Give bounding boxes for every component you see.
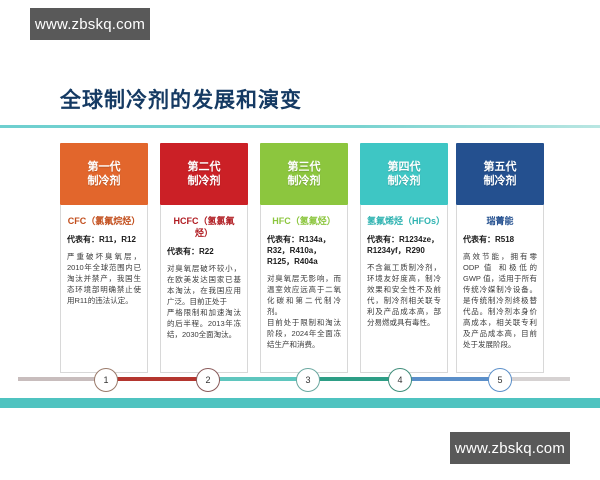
generation-columns: 第一代 制冷剂 CFC（氯氟烷烃） 代表有：R11，R12 严重破坏臭氧层，20…	[60, 143, 542, 375]
generation-representatives-4: 代表有：R1234ze，R1234yf，R290	[367, 234, 441, 256]
generation-description-5: 高效节能，拥有零 ODP 值 和极低的 GWP 值，适用于所有传统冷媒制冷设备。…	[463, 251, 537, 350]
timeline-node-1[interactable]: 1	[94, 368, 118, 392]
generation-representatives-5: 代表有：R518	[463, 234, 537, 245]
generation-header-line1-5: 第五代	[484, 160, 517, 174]
generation-highlight-3: 目前处于限制和淘汰阶段，2024年全面冻结生产和消费。	[267, 317, 341, 350]
generation-header-line2-4: 制冷剂	[388, 174, 421, 188]
generation-header-line2-2: 制冷剂	[188, 174, 221, 188]
generation-body-3: HFC（氢氟烃） 代表有：R134a，R32，R410a，R125，R404a …	[260, 205, 348, 373]
generation-representatives-3: 代表有：R134a，R32，R410a，R125，R404a	[267, 234, 341, 267]
timeline-node-2[interactable]: 2	[196, 368, 220, 392]
generation-subtitle-3: HFC（氢氟烃）	[267, 215, 341, 227]
timeline-segment-3	[312, 377, 396, 381]
generation-header-line2-5: 制冷剂	[484, 174, 517, 188]
generation-subtitle-1: CFC（氯氟烷烃）	[67, 215, 141, 227]
generation-body-2: HCFC（氢氯氟烃） 代表有：R22 对臭氧层破坏较小，在欧美发达国家已基本淘汰…	[160, 205, 248, 373]
timeline-node-5[interactable]: 5	[488, 368, 512, 392]
generation-description-2: 对臭氧层破坏较小，在欧美发达国家已基本淘汰，在我国应用广泛。目前正处于	[167, 263, 241, 307]
infographic-page: www.zbskq.com 全球制冷剂的发展和演变 第一代 制冷剂 CFC（氯氟…	[0, 0, 600, 480]
generation-header-2: 第二代 制冷剂	[160, 143, 248, 205]
timeline-segment-0	[18, 377, 104, 381]
generation-body-5: 瑞菁能 代表有：R518 高效节能，拥有零 ODP 值 和极低的 GWP 值，适…	[456, 205, 544, 373]
generation-column-1[interactable]: 第一代 制冷剂 CFC（氯氟烷烃） 代表有：R11，R12 严重破坏臭氧层，20…	[60, 143, 148, 373]
page-title: 全球制冷剂的发展和演变	[60, 84, 302, 114]
generation-column-2[interactable]: 第二代 制冷剂 HCFC（氢氯氟烃） 代表有：R22 对臭氧层破坏较小，在欧美发…	[160, 143, 248, 373]
generation-body-4: 氢氟烯烃（HFOs） 代表有：R1234ze，R1234yf，R290 不含氟工…	[360, 205, 448, 373]
generation-subtitle-2: HCFC（氢氯氟烃）	[167, 215, 241, 239]
generation-header-1: 第一代 制冷剂	[60, 143, 148, 205]
generation-header-line1-1: 第一代	[88, 160, 121, 174]
generation-description-4: 不含氟工质制冷剂，环境友好度高，制冷效果和安全性不及前代，制冷剂相关联专利及产品…	[367, 262, 441, 328]
timeline-node-label-2: 2	[205, 375, 210, 385]
timeline-node-4[interactable]: 4	[388, 368, 412, 392]
timeline-node-label-4: 4	[397, 375, 402, 385]
timeline-node-3[interactable]: 3	[296, 368, 320, 392]
generation-header-line1-3: 第三代	[288, 160, 321, 174]
generation-description-3: 对臭氧层无影响，而温室效应远高于二氧化碳和第二代制冷剂。	[267, 273, 341, 317]
generation-column-3[interactable]: 第三代 制冷剂 HFC（氢氟烃） 代表有：R134a，R32，R410a，R12…	[260, 143, 348, 373]
generation-header-line2-1: 制冷剂	[88, 174, 121, 188]
generation-column-4[interactable]: 第四代 制冷剂 氢氟烯烃（HFOs） 代表有：R1234ze，R1234yf，R…	[360, 143, 448, 373]
generation-subtitle-4: 氢氟烯烃（HFOs）	[367, 215, 441, 227]
timeline-node-label-3: 3	[305, 375, 310, 385]
generation-header-line1-4: 第四代	[388, 160, 421, 174]
generation-description-1: 严重破坏臭氧层，2010年全球范围内已淘汰并禁产，我国生态环境部明确禁止使用R1…	[67, 251, 141, 306]
watermark-top-text: www.zbskq.com	[35, 16, 145, 33]
generation-representatives-2: 代表有：R22	[167, 246, 241, 257]
generation-header-3: 第三代 制冷剂	[260, 143, 348, 205]
timeline-node-label-1: 1	[103, 375, 108, 385]
generation-body-1: CFC（氯氟烷烃） 代表有：R11，R12 严重破坏臭氧层，2010年全球范围内…	[60, 205, 148, 373]
watermark-top: www.zbskq.com	[30, 8, 150, 40]
timeline: 1 2 3 4 5	[0, 368, 600, 390]
generation-highlight-2: 严格限制和加速淘汰的后半程。2013年冻结，2030全面淘汰。	[167, 307, 241, 340]
generation-subtitle-5: 瑞菁能	[463, 215, 537, 227]
generation-header-5: 第五代 制冷剂	[456, 143, 544, 205]
watermark-bottom-text: www.zbskq.com	[455, 440, 565, 457]
generation-header-line1-2: 第二代	[188, 160, 221, 174]
generation-representatives-1: 代表有：R11，R12	[67, 234, 141, 245]
bottom-divider-rule	[0, 398, 600, 408]
watermark-bottom: www.zbskq.com	[450, 432, 570, 464]
generation-header-4: 第四代 制冷剂	[360, 143, 448, 205]
generation-header-line2-3: 制冷剂	[288, 174, 321, 188]
timeline-node-label-5: 5	[497, 375, 502, 385]
generation-column-5[interactable]: 第五代 制冷剂 瑞菁能 代表有：R518 高效节能，拥有零 ODP 值 和极低的…	[456, 143, 544, 373]
top-divider-rule	[0, 125, 600, 128]
